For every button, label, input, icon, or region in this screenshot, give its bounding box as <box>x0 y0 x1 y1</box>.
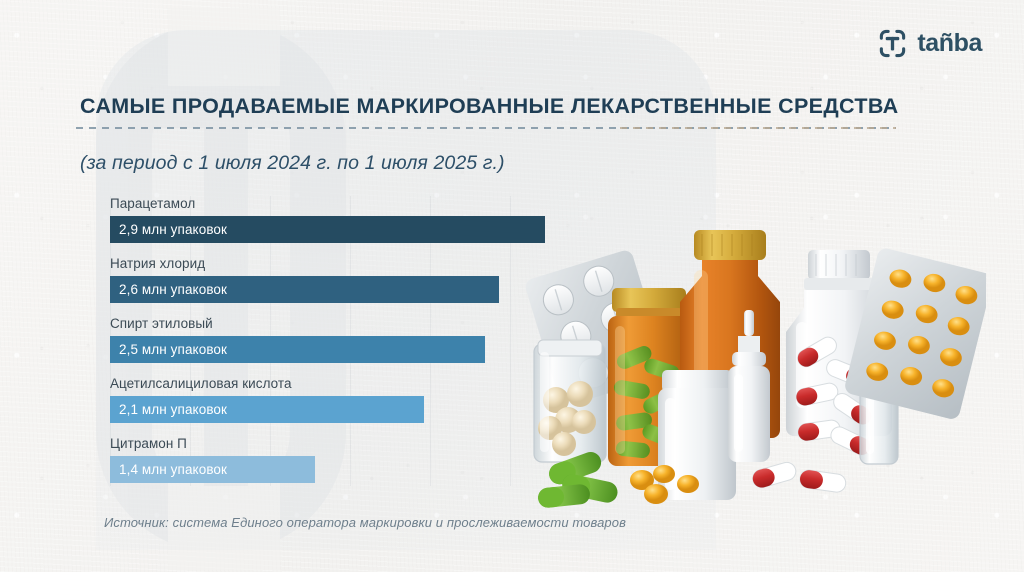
title-divider-warm-segment <box>620 127 896 129</box>
bar: 2,6 млн упаковок <box>110 276 499 303</box>
page-subtitle: (за период с 1 июля 2024 г. по 1 июля 20… <box>80 152 505 175</box>
bar-value-label: 2,5 млн упаковок <box>119 342 227 357</box>
tanba-bracket-mark-icon <box>877 28 908 59</box>
infographic-poster: tañba САМЫЕ ПРОДАВАЕМЫЕ МАРКИРОВАННЫЕ ЛЕ… <box>0 0 1024 572</box>
pharmaceutical-products-photo <box>516 222 986 512</box>
bar: 1,4 млн упаковок <box>110 456 315 483</box>
bar-category-label: Парацетамол <box>110 196 570 211</box>
bar-category-label: Натрия хлорид <box>110 256 570 271</box>
chart-row: Спирт этиловый2,5 млн упаковок <box>110 316 570 363</box>
chart-row: Натрия хлорид2,6 млн упаковок <box>110 256 570 303</box>
chart-row: Цитрамон П1,4 млн упаковок <box>110 436 570 483</box>
bar-category-label: Цитрамон П <box>110 436 570 451</box>
bar-category-label: Спирт этиловый <box>110 316 570 331</box>
brand-logo[interactable]: tañba <box>877 28 982 59</box>
clear-jar-beige-softgels <box>534 340 606 462</box>
brand-logo-text: tañba <box>917 31 982 56</box>
bar-value-label: 2,9 млн упаковок <box>119 222 227 237</box>
bar: 2,5 млн упаковок <box>110 336 485 363</box>
page-title: САМЫЕ ПРОДАВАЕМЫЕ МАРКИРОВАННЫЕ ЛЕКАРСТВ… <box>80 94 899 119</box>
bar-chart: Парацетамол2,9 млн упаковокНатрия хлорид… <box>110 196 570 496</box>
chart-row: Ацетилсалициловая кислота2,1 млн упаково… <box>110 376 570 423</box>
bar: 2,9 млн упаковок <box>110 216 545 243</box>
bar-category-label: Ацетилсалициловая кислота <box>110 376 570 391</box>
bar-value-label: 1,4 млн упаковок <box>119 462 227 477</box>
bar: 2,1 млн упаковок <box>110 396 424 423</box>
bar-value-label: 2,6 млн упаковок <box>119 282 227 297</box>
bar-value-label: 2,1 млн упаковок <box>119 402 227 417</box>
source-note: Источник: система Единого оператора марк… <box>104 515 626 530</box>
chart-row: Парацетамол2,9 млн упаковок <box>110 196 570 243</box>
